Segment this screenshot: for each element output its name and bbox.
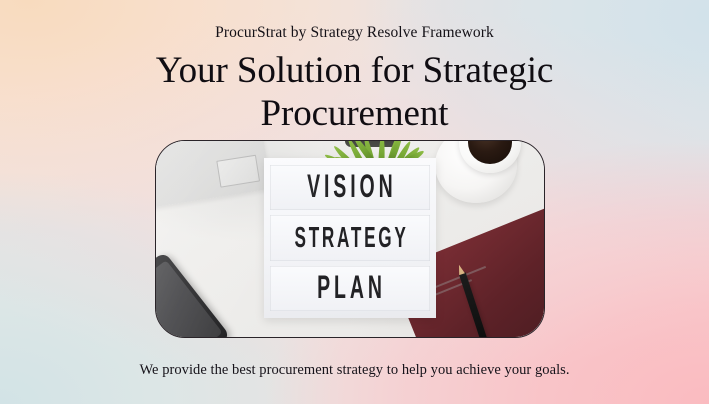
lightbox-row: VISION [270, 165, 430, 210]
hero-image-card: VISION STRATEGY PLAN [155, 140, 545, 338]
page-title: Your Solution for Strategic Procurement [0, 50, 709, 136]
lightbox-line-1: VISION [303, 169, 396, 207]
lightbox-row: PLAN [270, 266, 430, 311]
lightbox-sign: VISION STRATEGY PLAN [264, 158, 436, 318]
lightbox-row: STRATEGY [270, 215, 430, 260]
banner-subtitle: We provide the best procurement strategy… [0, 362, 709, 379]
laptop-trackpad [216, 155, 260, 188]
lightbox-line-2: STRATEGY [291, 221, 409, 255]
desk-photo: VISION STRATEGY PLAN [156, 141, 544, 337]
lightbox-line-3: PLAN [314, 269, 387, 307]
coffee-liquid [468, 140, 512, 164]
banner-eyebrow: ProcurStrat by Strategy Resolve Framewor… [0, 24, 709, 42]
marketing-banner: ProcurStrat by Strategy Resolve Framewor… [0, 0, 709, 404]
